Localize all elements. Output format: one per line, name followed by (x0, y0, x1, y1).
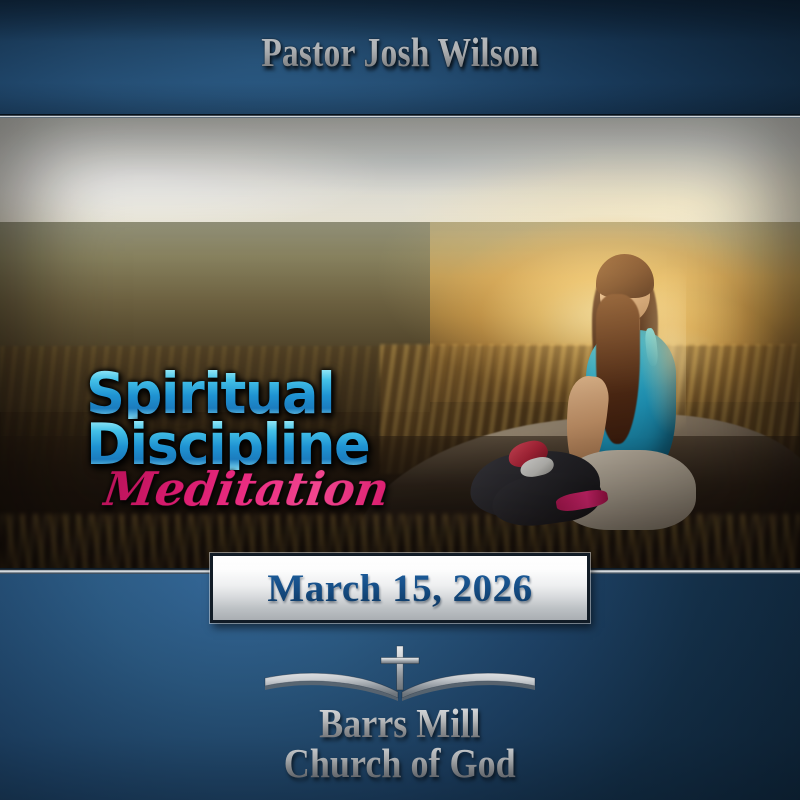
hero-photo: Spiritual Disciplines Meditation (0, 118, 800, 572)
header-band: Pastor Josh Wilson (0, 0, 800, 118)
pastor-name: Pastor Josh Wilson (72, 32, 728, 73)
logo-wordmark: Barrs Mill Church of God (284, 704, 516, 782)
sermon-graphic-canvas: Pastor Josh Wilson (0, 0, 800, 800)
sermon-title-lockup: Spiritual Disciplines Meditation (86, 370, 386, 512)
photo-top-divider (0, 114, 800, 118)
date-banner: March 15, 2026 (210, 553, 590, 623)
logo-name-line-2: Church of God (284, 744, 516, 783)
church-logo: Barrs Mill Church of God (0, 644, 800, 782)
sermon-date: March 15, 2026 (267, 569, 532, 608)
logo-name-line-1: Barrs Mill (284, 704, 516, 743)
cross-icon (381, 646, 419, 690)
sermon-subtitle-script: Meditation (101, 466, 395, 512)
